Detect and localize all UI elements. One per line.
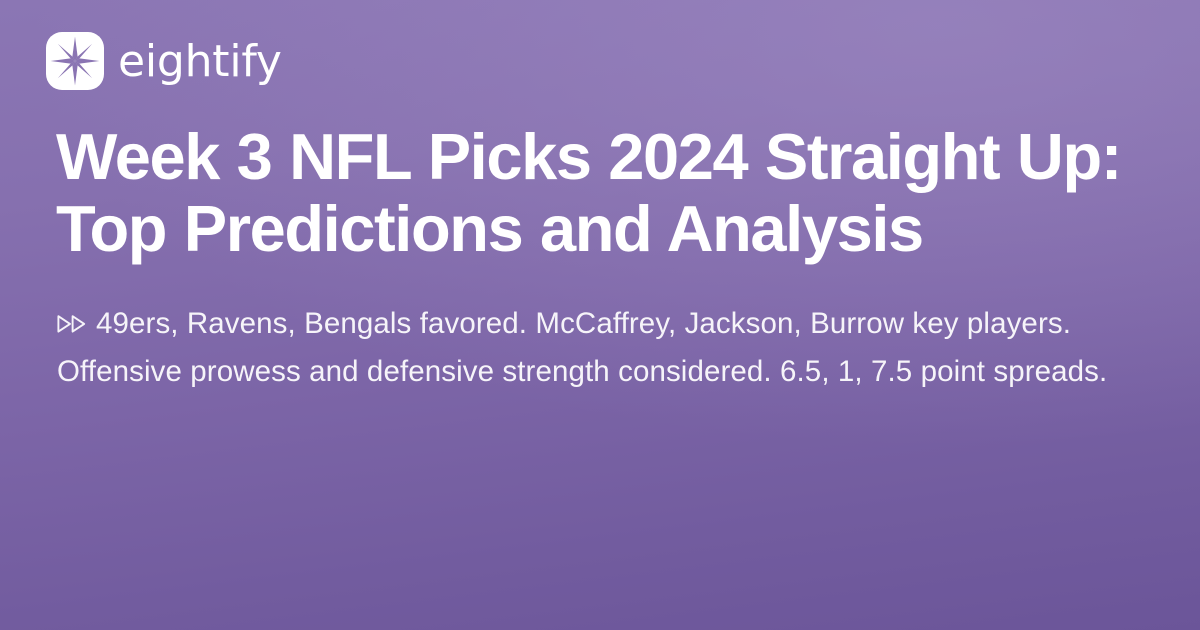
card-summary: 49ers, Ravens, Bengals favored. McCaffre…: [57, 300, 1147, 396]
brand-wordmark: eightify: [118, 40, 282, 84]
share-card: eightify Week 3 NFL Picks 2024 Straight …: [0, 0, 1200, 630]
brand-logo[interactable]: eightify: [46, 32, 282, 90]
card-title: Week 3 NFL Picks 2024 Straight Up: Top P…: [56, 121, 1131, 265]
fast-forward-icon: [57, 314, 87, 334]
eightify-starburst-icon: [46, 32, 104, 90]
card-summary-text: 49ers, Ravens, Bengals favored. McCaffre…: [57, 307, 1107, 388]
